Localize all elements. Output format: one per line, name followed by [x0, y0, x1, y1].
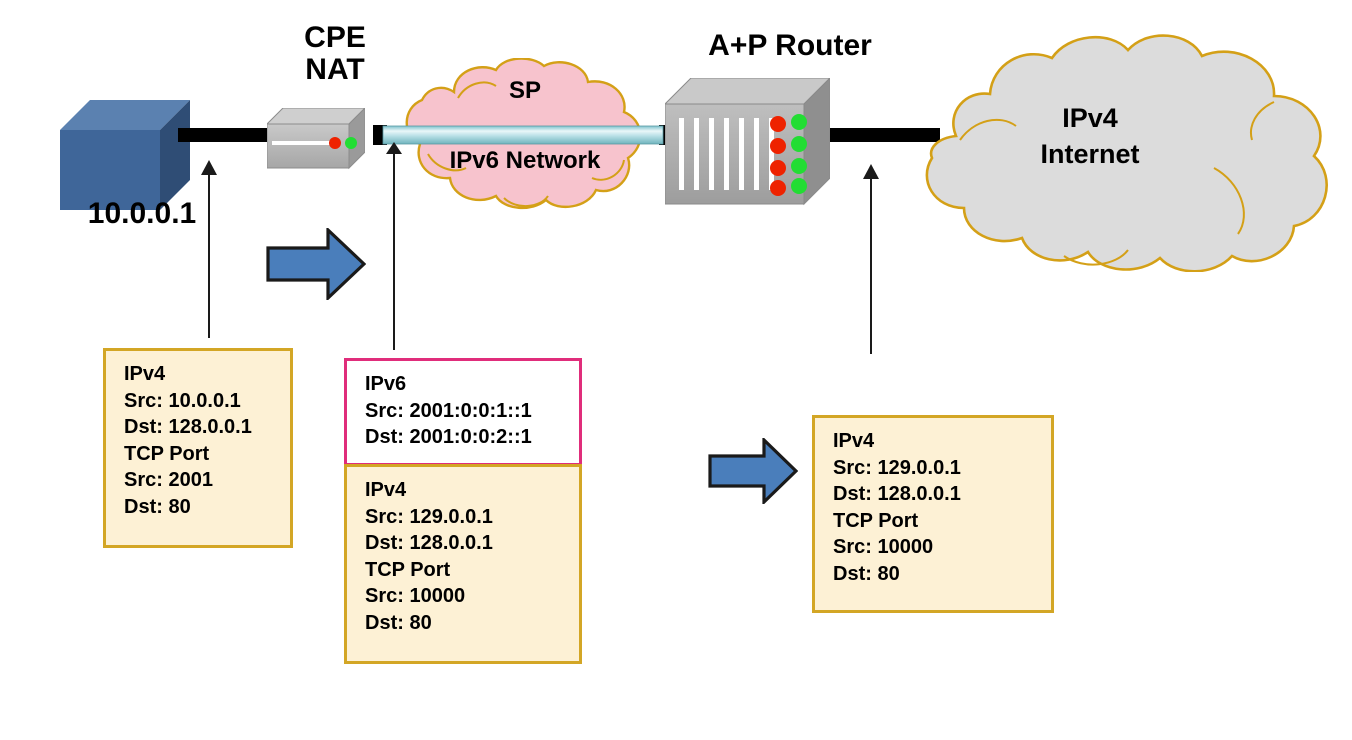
packet-line: Src: 2001:0:0:1::1	[365, 398, 579, 425]
packet-line: TCP Port	[124, 441, 290, 468]
packet-line: Dst: 128.0.0.1	[365, 530, 579, 557]
led-red-icon	[329, 137, 341, 149]
diagram-canvas: 10.0.0.1 CPE NAT	[0, 0, 1352, 740]
packet-right-ipv4-section: IPv4 Src: 129.0.0.1 Dst: 128.0.0.1 TCP P…	[815, 418, 1051, 598]
packet-line: Dst: 2001:0:0:2::1	[365, 424, 579, 451]
flow-arrow-decapsulation	[708, 438, 798, 504]
host-cube	[60, 100, 190, 210]
packet-ipv4-public: IPv4 Src: 129.0.0.1 Dst: 128.0.0.1 TCP P…	[812, 415, 1054, 613]
ap-router-label: A+P Router	[655, 30, 925, 62]
packet-line: Dst: 128.0.0.1	[833, 481, 1051, 508]
packet-left-ipv4-section: IPv4 Src: 10.0.0.1 Dst: 128.0.0.1 TCP Po…	[106, 351, 290, 531]
packet-line: IPv6	[365, 371, 579, 398]
packet-line: TCP Port	[365, 557, 579, 584]
pointer-host-link	[200, 160, 218, 338]
packet-ipv4-private: IPv4 Src: 10.0.0.1 Dst: 128.0.0.1 TCP Po…	[103, 348, 293, 548]
cpe-nat-label: CPE NAT	[255, 22, 415, 85]
packet-line: Src: 10000	[833, 534, 1051, 561]
packet-line: Dst: 80	[833, 561, 1051, 588]
link-host-cpe	[178, 128, 273, 142]
packet-line: Src: 129.0.0.1	[365, 504, 579, 531]
packet-line: Src: 129.0.0.1	[833, 455, 1051, 482]
packet-line: IPv4	[833, 428, 1051, 455]
cpe-nat-device	[267, 108, 365, 170]
packet-middle-ipv6-header: IPv6 Src: 2001:0:0:1::1 Dst: 2001:0:0:2:…	[344, 358, 582, 466]
ap-router	[665, 78, 830, 206]
pointer-internet-link	[862, 164, 880, 354]
packet-line: Dst: 128.0.0.1	[124, 414, 290, 441]
packet-middle-ipv6-section: IPv6 Src: 2001:0:0:1::1 Dst: 2001:0:0:2:…	[347, 361, 579, 461]
packet-line: Src: 10000	[365, 583, 579, 610]
sp-cloud-label-top: SP	[420, 78, 630, 104]
packet-middle-ipv4-section: IPv4 Src: 129.0.0.1 Dst: 128.0.0.1 TCP P…	[347, 467, 579, 647]
packet-line: IPv4	[124, 361, 290, 388]
packet-line: Src: 10.0.0.1	[124, 388, 290, 415]
packet-line: Src: 2001	[124, 467, 290, 494]
packet-line: TCP Port	[833, 508, 1051, 535]
sp-cloud-label-bottom: IPv6 Network	[400, 148, 650, 174]
ipv4-internet-label: IPv4 Internet	[975, 100, 1205, 173]
flow-arrow-encapsulation	[266, 228, 366, 300]
pointer-ipv6-link	[386, 142, 404, 350]
link-ipv6	[373, 122, 673, 148]
led-green-icon	[345, 137, 357, 149]
packet-middle-ipv4-payload: IPv4 Src: 129.0.0.1 Dst: 128.0.0.1 TCP P…	[344, 464, 582, 664]
packet-line: Dst: 80	[124, 494, 290, 521]
packet-line: Dst: 80	[365, 610, 579, 637]
packet-line: IPv4	[365, 477, 579, 504]
